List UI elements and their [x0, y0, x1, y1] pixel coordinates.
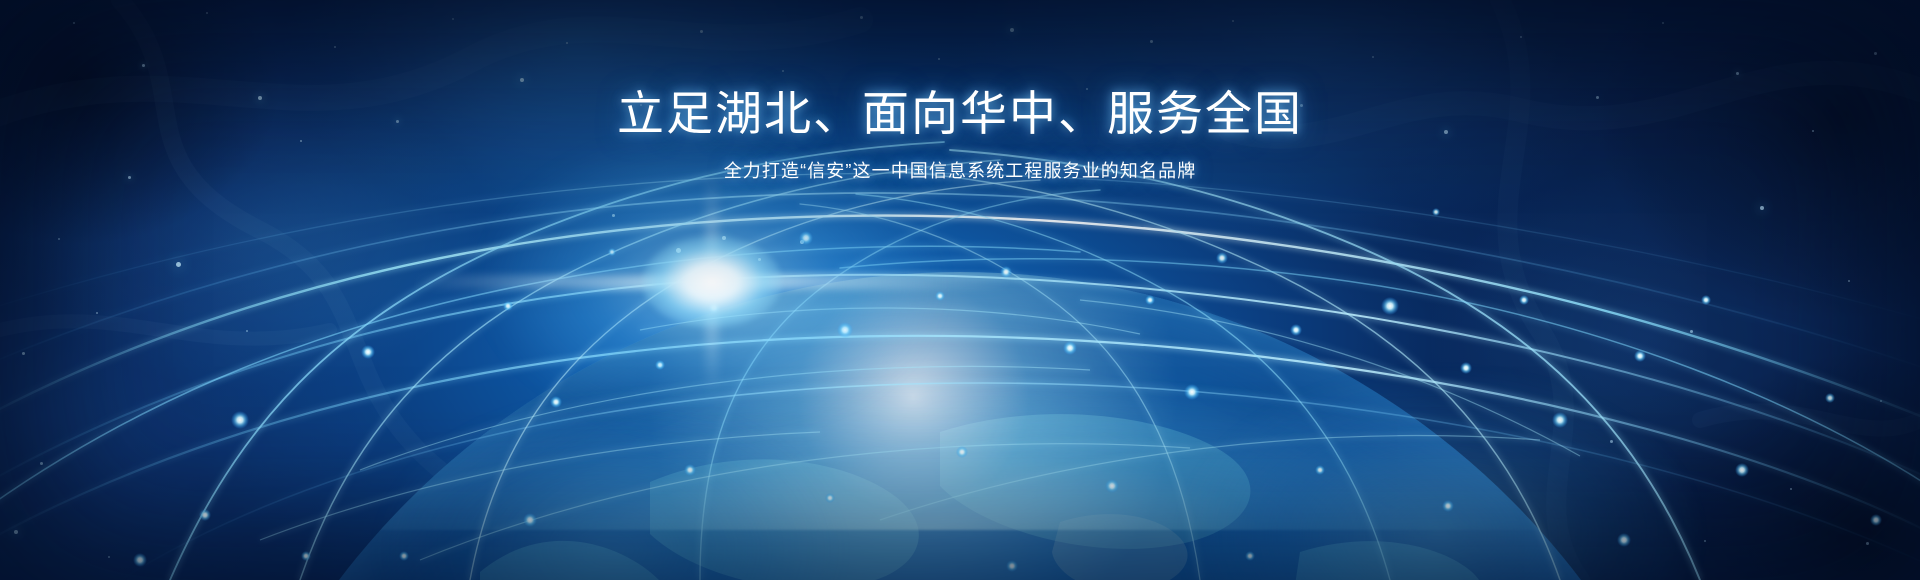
hero-banner: 立足湖北、面向华中、服务全国 全力打造“信安”这一中国信息系统工程服务业的知名品…	[0, 0, 1920, 580]
banner-headline: 立足湖北、面向华中、服务全国	[0, 86, 1920, 141]
banner-copy: 立足湖北、面向华中、服务全国 全力打造“信安”这一中国信息系统工程服务业的知名品…	[0, 86, 1920, 185]
banner-subheadline: 全力打造“信安”这一中国信息系统工程服务业的知名品牌	[0, 159, 1920, 184]
